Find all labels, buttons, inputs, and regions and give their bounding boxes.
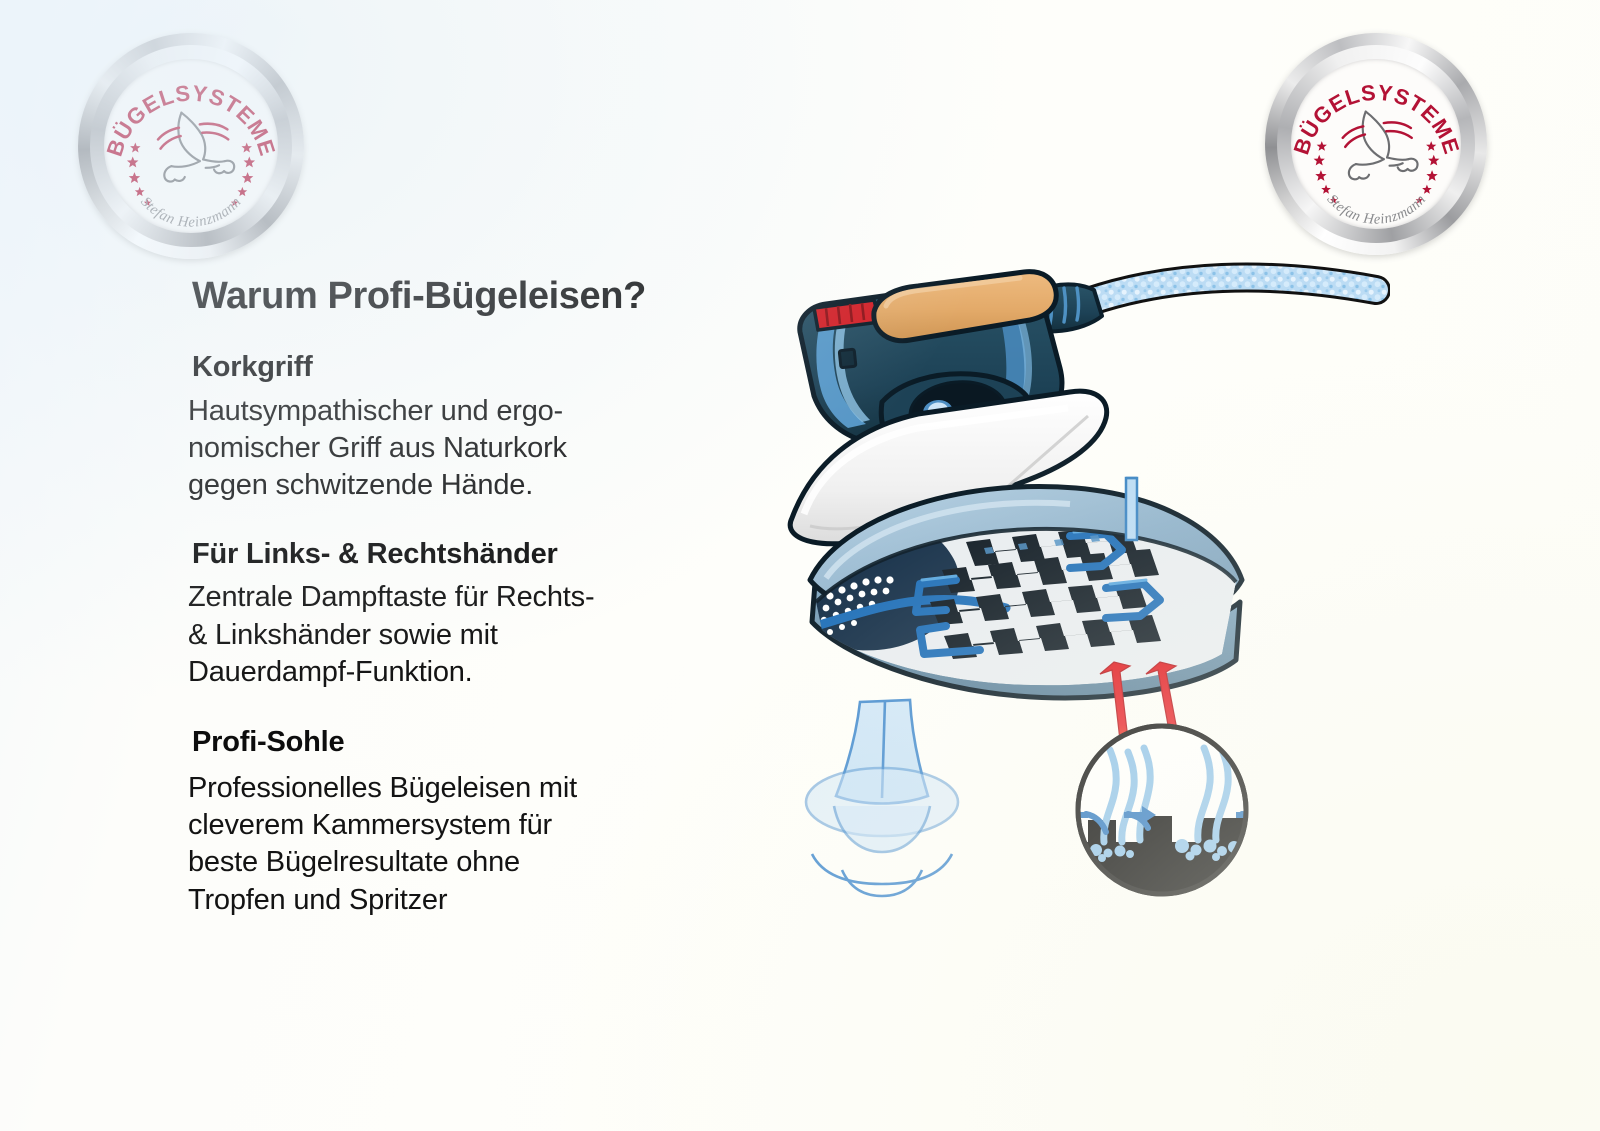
feature-body-links-rechts: Zentrale Dampftaste für Rechts-& Linkshä… (188, 579, 748, 691)
badge-face: BÜGELSYSTEME (1291, 59, 1462, 230)
page-title: Warum Profi-Bügeleisen? (192, 276, 748, 316)
steam-cloud (806, 700, 958, 896)
feature-title-korkgriff: Korkgriff (192, 352, 748, 383)
feature-body-korkgriff: Hautsympathischer und ergo-nomischer Gri… (188, 393, 748, 505)
feature-block-profi-sohle: Profi-Sohle Professionelles Bügeleisen m… (188, 727, 748, 919)
iron-exploded-diagram (770, 250, 1390, 910)
badge-face: BÜGELSYSTEME (104, 59, 278, 233)
feature-title-links-rechts: Für Links- & Rechtshänder (192, 539, 748, 570)
svg-text:Stefan Heinzmann: Stefan Heinzmann (137, 194, 244, 231)
feature-block-korkgriff: Korkgriff Hautsympathischer und ergo-nom… (188, 352, 748, 505)
badge-owner-name: Stefan Heinzmann (137, 194, 244, 231)
steam-inlet-tube (1126, 478, 1137, 540)
svg-text:Stefan Heinzmann: Stefan Heinzmann (1323, 191, 1429, 227)
steam-iron-illustration (770, 250, 1390, 910)
poster-canvas: BÜGELSYSTEME (0, 0, 1600, 1131)
feature-text-column: Warum Profi-Bügeleisen? Korkgriff Hautsy… (188, 276, 748, 919)
feature-title-profi-sohle: Profi-Sohle (192, 727, 748, 758)
feature-block-links-rechts: Für Links- & Rechtshänder Zentrale Dampf… (188, 539, 748, 692)
feature-body-profi-sohle: Professionelles Bügeleisen mitcleverem K… (188, 770, 748, 920)
steam-detail-circle (1056, 726, 1268, 910)
steam-hose (1088, 278, 1376, 303)
badge-owner-name: Stefan Heinzmann (1323, 191, 1429, 227)
badge-owner-arc-text: Stefan Heinzmann (1291, 59, 1462, 230)
logo-badge-left: BÜGELSYSTEME (78, 33, 304, 259)
badge-owner-arc-text: Stefan Heinzmann (104, 59, 278, 233)
logo-badge-right: BÜGELSYSTEME (1265, 33, 1487, 255)
